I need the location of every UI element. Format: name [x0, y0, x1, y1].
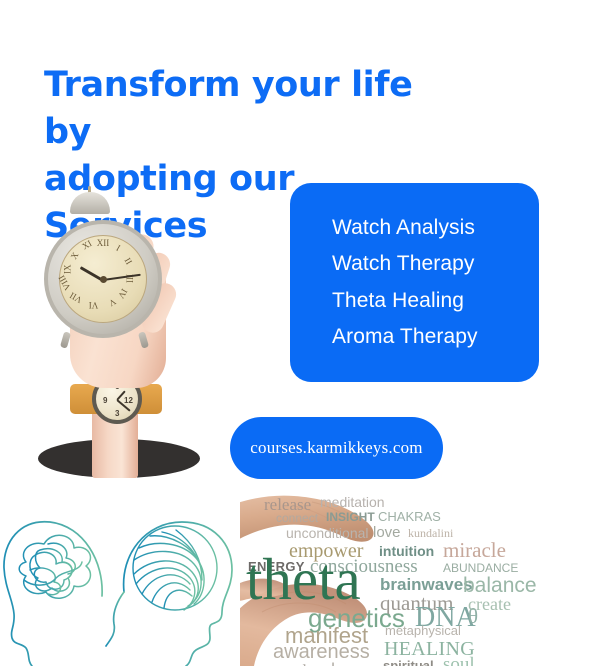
word-cloud-term: awareness — [273, 642, 370, 662]
brain-illustration — [0, 500, 240, 666]
clock-numeral-X: X — [69, 250, 81, 261]
word-cloud-words: releasemeditationconnectINSIGHTCHAKRASun… — [240, 492, 600, 666]
word-cloud-term: unconditional — [286, 526, 369, 540]
tangled-scribble-brain — [19, 535, 90, 598]
website-url-label: courses.karmikkeys.com — [250, 438, 422, 458]
word-cloud-term: ABUNDANCE — [443, 562, 518, 574]
clock-face: XIIIIIIIIIVVVIVIIVIIIIXXXI — [59, 235, 147, 323]
brain-illustration-svg — [0, 500, 240, 666]
word-cloud-term: theta — [246, 550, 361, 609]
clock-numeral-VII: VII — [68, 290, 84, 305]
clock-numeral-VI: VI — [89, 300, 99, 310]
word-cloud-term: meditation — [320, 495, 385, 509]
word-cloud-term: balance — [463, 575, 537, 596]
neck-right — [106, 592, 124, 646]
word-cloud-term: love — [373, 525, 401, 540]
clock-hand-image: 12 9 3 6 XIIIIIIIIIVVVIVIIVIIIIXXXI — [18, 186, 233, 484]
service-item-watch-analysis: Watch Analysis — [332, 210, 475, 246]
watch-numeral-9: 9 — [103, 396, 107, 405]
service-item-watch-therapy: Watch Therapy — [332, 246, 475, 282]
clock-numeral-II: II — [123, 256, 135, 266]
word-cloud-term: CHAKRAS — [378, 510, 441, 523]
clock-center-pin — [100, 276, 107, 283]
clock-numeral-IV: IV — [116, 287, 129, 300]
watch-numeral-3: 3 — [115, 409, 119, 418]
clock-numeral-I: I — [115, 243, 123, 253]
word-cloud-term: connect — [276, 512, 318, 524]
clock-numeral-XII: XII — [97, 238, 110, 248]
alarm-clock: XIIIIIIIIIVVVIVIIVIIIIXXXI — [44, 220, 162, 338]
word-cloud-term: growth — [263, 662, 311, 666]
clock-numeral-XI: XI — [80, 238, 93, 251]
alarm-clock-bell — [70, 192, 110, 214]
word-cloud-term: INSIGHT — [326, 511, 375, 523]
yarn-ball-brain — [133, 526, 217, 610]
website-url-pill[interactable]: courses.karmikkeys.com — [230, 417, 443, 479]
clock-numeral-IX: IX — [62, 265, 72, 275]
watch-numeral-12: 12 — [124, 396, 133, 405]
head-outline-right — [124, 522, 232, 666]
clock-numeral-VIII: VIII — [56, 274, 72, 292]
service-item-theta-healing: Theta Healing — [332, 283, 464, 319]
clock-numeral-V: V — [107, 297, 118, 309]
word-cloud-term: metaphysical — [385, 624, 461, 637]
word-cloud-term: miracle — [443, 540, 506, 561]
word-cloud-term: θ — [468, 606, 478, 627]
headline-line-1: Transform your life by — [44, 65, 412, 152]
service-item-aroma-therapy: Aroma Therapy — [332, 319, 478, 355]
services-card: Watch Analysis Watch Therapy Theta Heali… — [290, 183, 539, 382]
word-cloud-term: change — [322, 661, 381, 666]
theta-word-cloud-image: releasemeditationconnectINSIGHTCHAKRASun… — [240, 492, 600, 666]
poster-canvas: Transform your life by adopting our Serv… — [0, 0, 600, 666]
